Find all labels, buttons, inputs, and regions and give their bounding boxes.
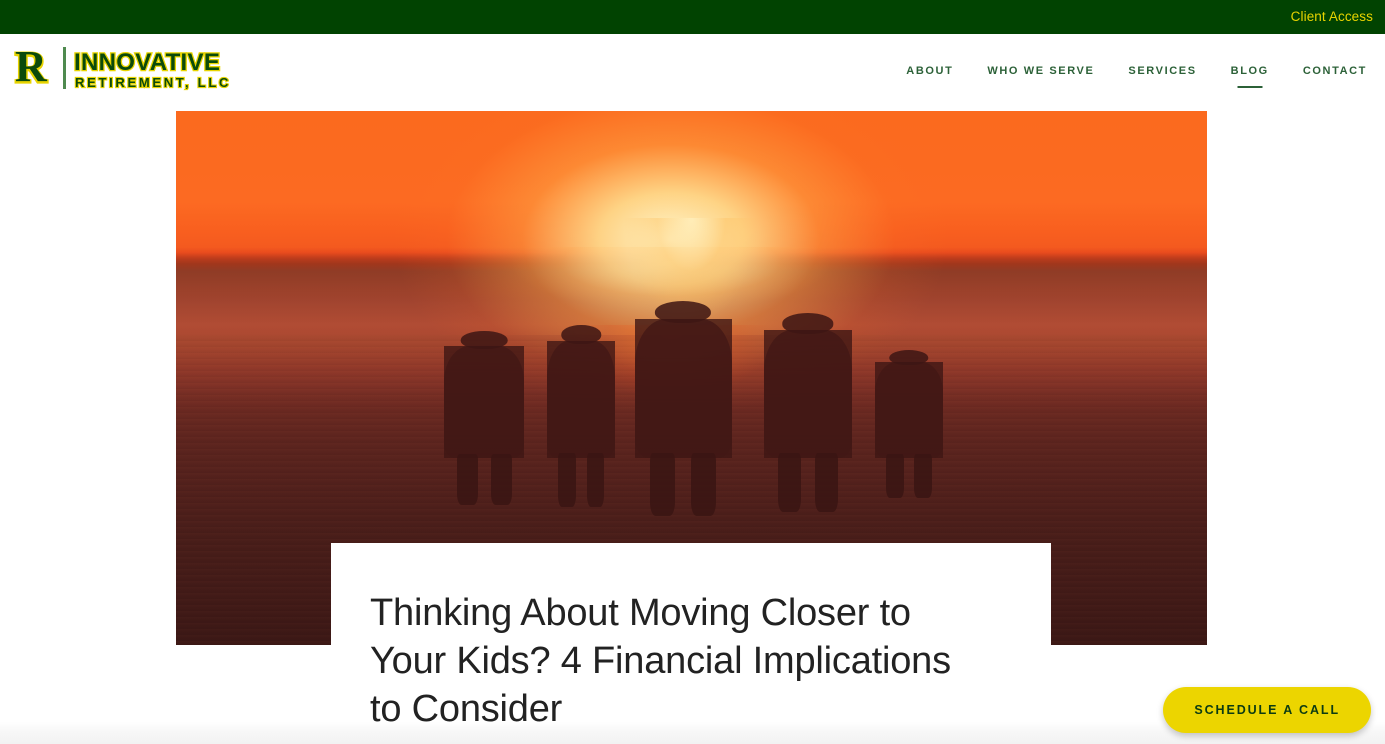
figure-leg-left bbox=[457, 454, 478, 506]
figure-body bbox=[875, 362, 943, 458]
silhouette-figure-3 bbox=[635, 319, 732, 458]
figure-leg-left bbox=[650, 453, 675, 517]
figure-head bbox=[889, 350, 928, 365]
article-title-card: Thinking About Moving Closer to Your Kid… bbox=[331, 543, 1051, 744]
silhouette-figure-1 bbox=[444, 346, 524, 458]
nav-item-about[interactable]: ABOUT bbox=[889, 63, 970, 79]
figure-head bbox=[655, 301, 711, 323]
svg-text:INNOVATIVE: INNOVATIVE bbox=[74, 49, 220, 76]
nav-item-blog[interactable]: BLOG bbox=[1214, 63, 1286, 79]
figure-leg-right bbox=[914, 454, 932, 498]
figure-leg-left bbox=[558, 453, 576, 507]
client-access-link[interactable]: Client Access bbox=[1291, 10, 1373, 24]
logo-monogram-r: R R bbox=[15, 44, 48, 92]
figure-body bbox=[444, 346, 524, 458]
page-root: Client Access R R INNOVATIVE INNOVATIVE … bbox=[0, 0, 1385, 744]
figure-leg-left bbox=[886, 454, 904, 498]
figure-leg-right bbox=[691, 453, 716, 517]
primary-navigation: ABOUT WHO WE SERVE SERVICES BLOG CONTACT bbox=[889, 63, 1373, 79]
nav-item-who-we-serve[interactable]: WHO WE SERVE bbox=[970, 63, 1111, 79]
logo-svg: R R INNOVATIVE INNOVATIVE RETIREMENT, LL… bbox=[14, 44, 229, 92]
logo-wordmark: INNOVATIVE INNOVATIVE RETIREMENT, LLC RE… bbox=[74, 49, 229, 90]
nav-item-services[interactable]: SERVICES bbox=[1111, 63, 1213, 79]
figure-leg-right bbox=[815, 453, 838, 512]
nav-item-contact[interactable]: CONTACT bbox=[1286, 63, 1373, 79]
svg-text:R: R bbox=[15, 44, 48, 91]
site-header: R R INNOVATIVE INNOVATIVE RETIREMENT, LL… bbox=[0, 34, 1385, 111]
site-logo[interactable]: R R INNOVATIVE INNOVATIVE RETIREMENT, LL… bbox=[14, 44, 229, 92]
figure-body bbox=[635, 319, 732, 458]
figure-leg-right bbox=[587, 453, 605, 507]
schedule-a-call-button[interactable]: SCHEDULE A CALL bbox=[1163, 687, 1371, 733]
top-utility-bar: Client Access bbox=[0, 0, 1385, 34]
svg-text:RETIREMENT, LLC: RETIREMENT, LLC bbox=[75, 75, 229, 90]
figure-body bbox=[764, 330, 853, 458]
silhouette-figure-4 bbox=[764, 330, 853, 458]
figure-body bbox=[547, 341, 615, 458]
silhouette-figure-2 bbox=[547, 341, 615, 458]
figure-leg-left bbox=[778, 453, 801, 512]
figure-head bbox=[461, 331, 508, 349]
silhouette-figure-5 bbox=[875, 362, 943, 458]
page-title: Thinking About Moving Closer to Your Kid… bbox=[370, 589, 991, 733]
figure-head bbox=[561, 325, 600, 344]
figure-leg-right bbox=[491, 454, 512, 506]
logo-divider bbox=[63, 47, 66, 89]
figure-head bbox=[782, 313, 833, 334]
